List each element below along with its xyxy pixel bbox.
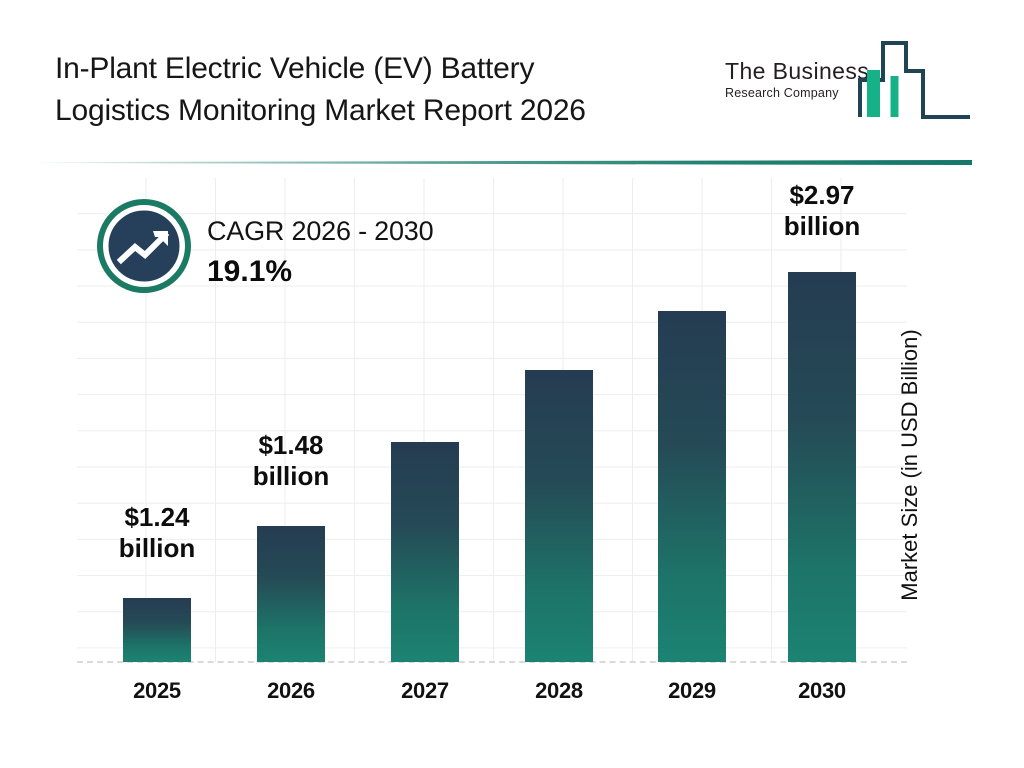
cagr-period-label: CAGR 2026 - 2030 [207,214,433,248]
x-tick-2026: 2026 [231,678,351,704]
chart-page: In-Plant Electric Vehicle (EV) Battery L… [0,0,1024,768]
x-tick-2030: 2030 [762,678,882,704]
bar-2027[interactable] [391,442,459,662]
cagr-value-label: 19.1% [207,253,433,291]
x-tick-2027: 2027 [365,678,485,704]
bar-label-2030: $2.97 billion [762,180,882,242]
bar-label-2026: $1.48 billion [231,430,351,492]
x-tick-2025: 2025 [97,678,217,704]
bar-2025[interactable] [123,598,191,662]
bar-2030[interactable] [788,272,856,662]
bar-2028[interactable] [525,370,593,662]
x-tick-2028: 2028 [499,678,619,704]
y-axis-label: Market Size (in USD Billion) [897,270,929,660]
cagr-text-block: CAGR 2026 - 2030 19.1% [207,214,433,291]
trending-up-icon [97,199,191,293]
bar-2029[interactable] [658,311,726,662]
bar-2026[interactable] [257,526,325,662]
cagr-annotation: CAGR 2026 - 2030 19.1% [97,199,517,304]
bar-series: $1.24 billion 2025 $1.48 billion 2026 20… [0,0,1024,768]
x-tick-2029: 2029 [632,678,752,704]
bar-label-2025: $1.24 billion [97,502,217,564]
